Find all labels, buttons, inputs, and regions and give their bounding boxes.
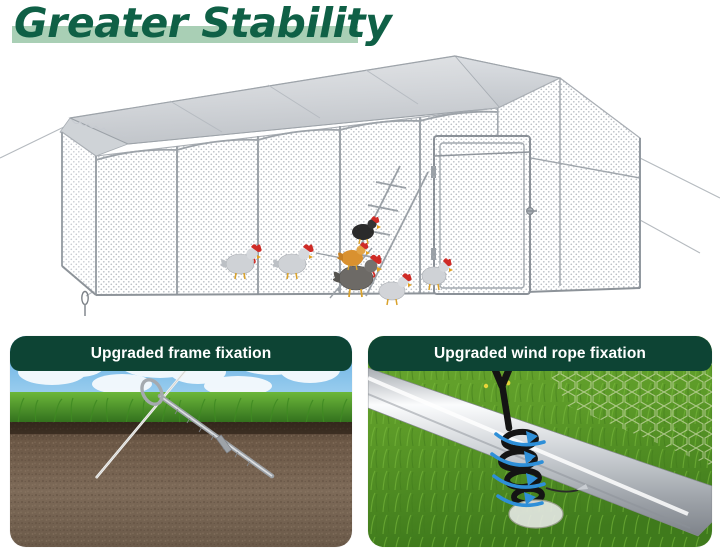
door-hinge-top	[431, 166, 436, 178]
door-hinge-bottom	[431, 248, 436, 260]
panel-header-frame-fixation: Upgraded frame fixation	[10, 336, 352, 371]
chicken-coop-illustration	[0, 48, 720, 326]
feature-panel-frame-fixation: Upgraded frame fixation	[10, 336, 352, 547]
page-title: Greater Stability	[14, 0, 391, 47]
panel-title-frame-fixation: Upgraded frame fixation	[91, 345, 272, 363]
page-title-block: Greater Stability	[0, 0, 720, 52]
feature-panel-wind-rope-fixation: Upgraded wind rope fixation	[368, 336, 712, 547]
panel-title-wind-rope-fixation: Upgraded wind rope fixation	[434, 345, 646, 363]
panel-header-wind-rope-fixation: Upgraded wind rope fixation	[368, 336, 712, 371]
product-feature-image: Greater Stability	[0, 0, 720, 551]
hero-product-illustration	[0, 48, 720, 326]
